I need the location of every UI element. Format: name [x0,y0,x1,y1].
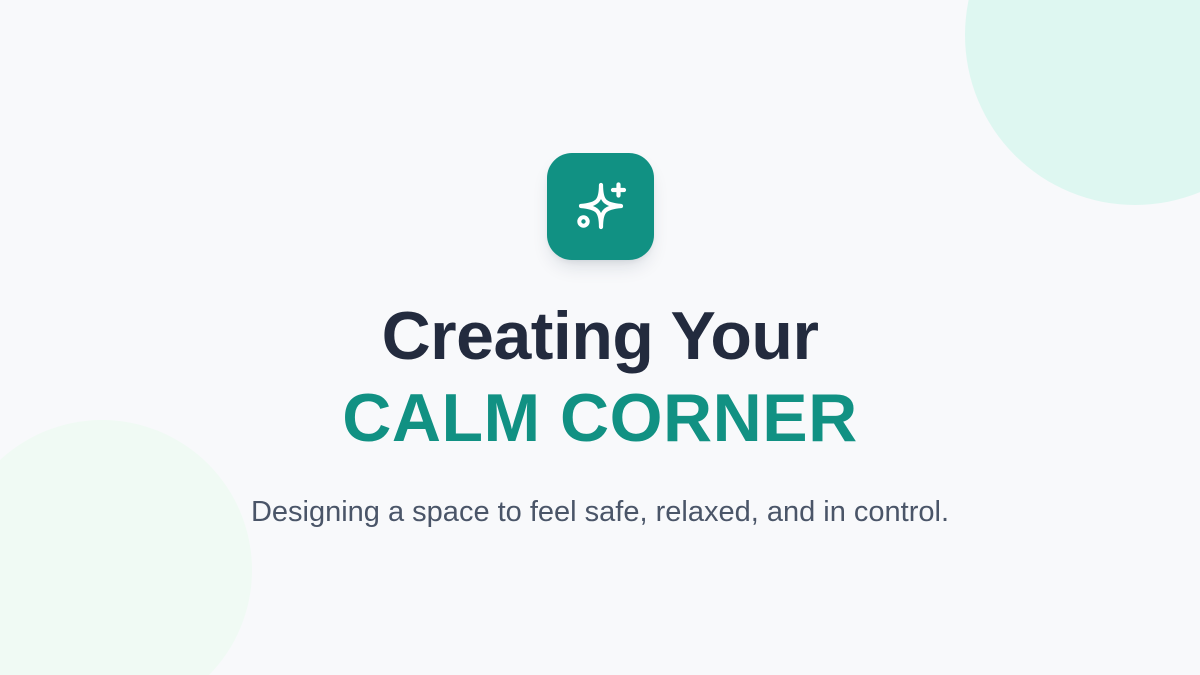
sparkle-plus-icon [568,175,632,239]
page-subtitle: Designing a space to feel safe, relaxed,… [251,494,949,530]
page-title-line-2: CALM CORNER [342,384,857,452]
app-logo-tile [547,153,654,260]
page-title-line-1: Creating Your [382,302,819,370]
title-slide: Creating Your CALM CORNER Designing a sp… [0,0,1200,675]
slide-content: Creating Your CALM CORNER Designing a sp… [0,0,1200,675]
